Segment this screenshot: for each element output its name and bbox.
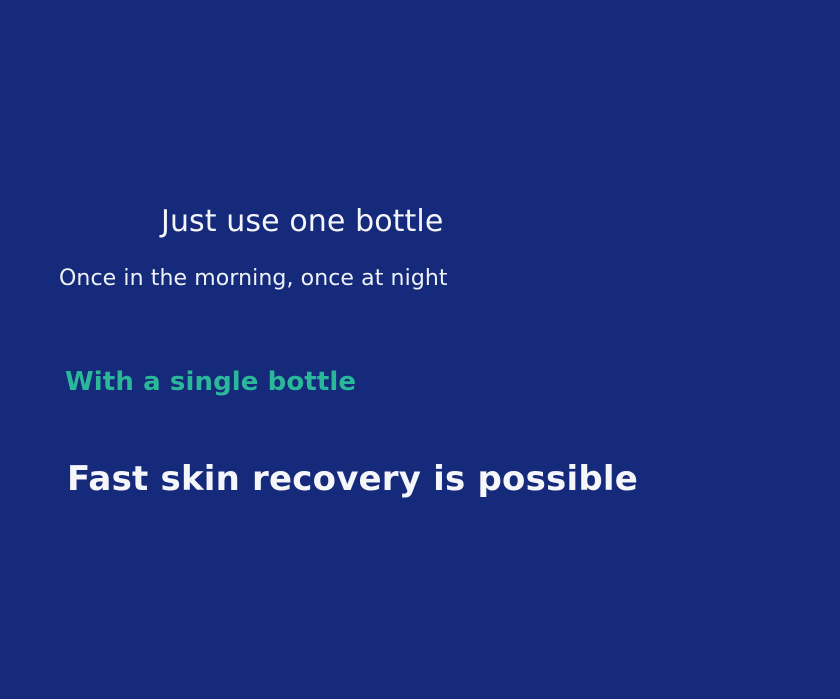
promo-slide: Just use one bottle Once in the morning,… xyxy=(0,0,840,699)
headline-hero: Fast skin recovery is possible xyxy=(67,462,638,496)
subheadline: Once in the morning, once at night xyxy=(59,268,448,290)
accent-line: With a single bottle xyxy=(65,369,356,395)
headline-primary: Just use one bottle xyxy=(161,207,443,237)
